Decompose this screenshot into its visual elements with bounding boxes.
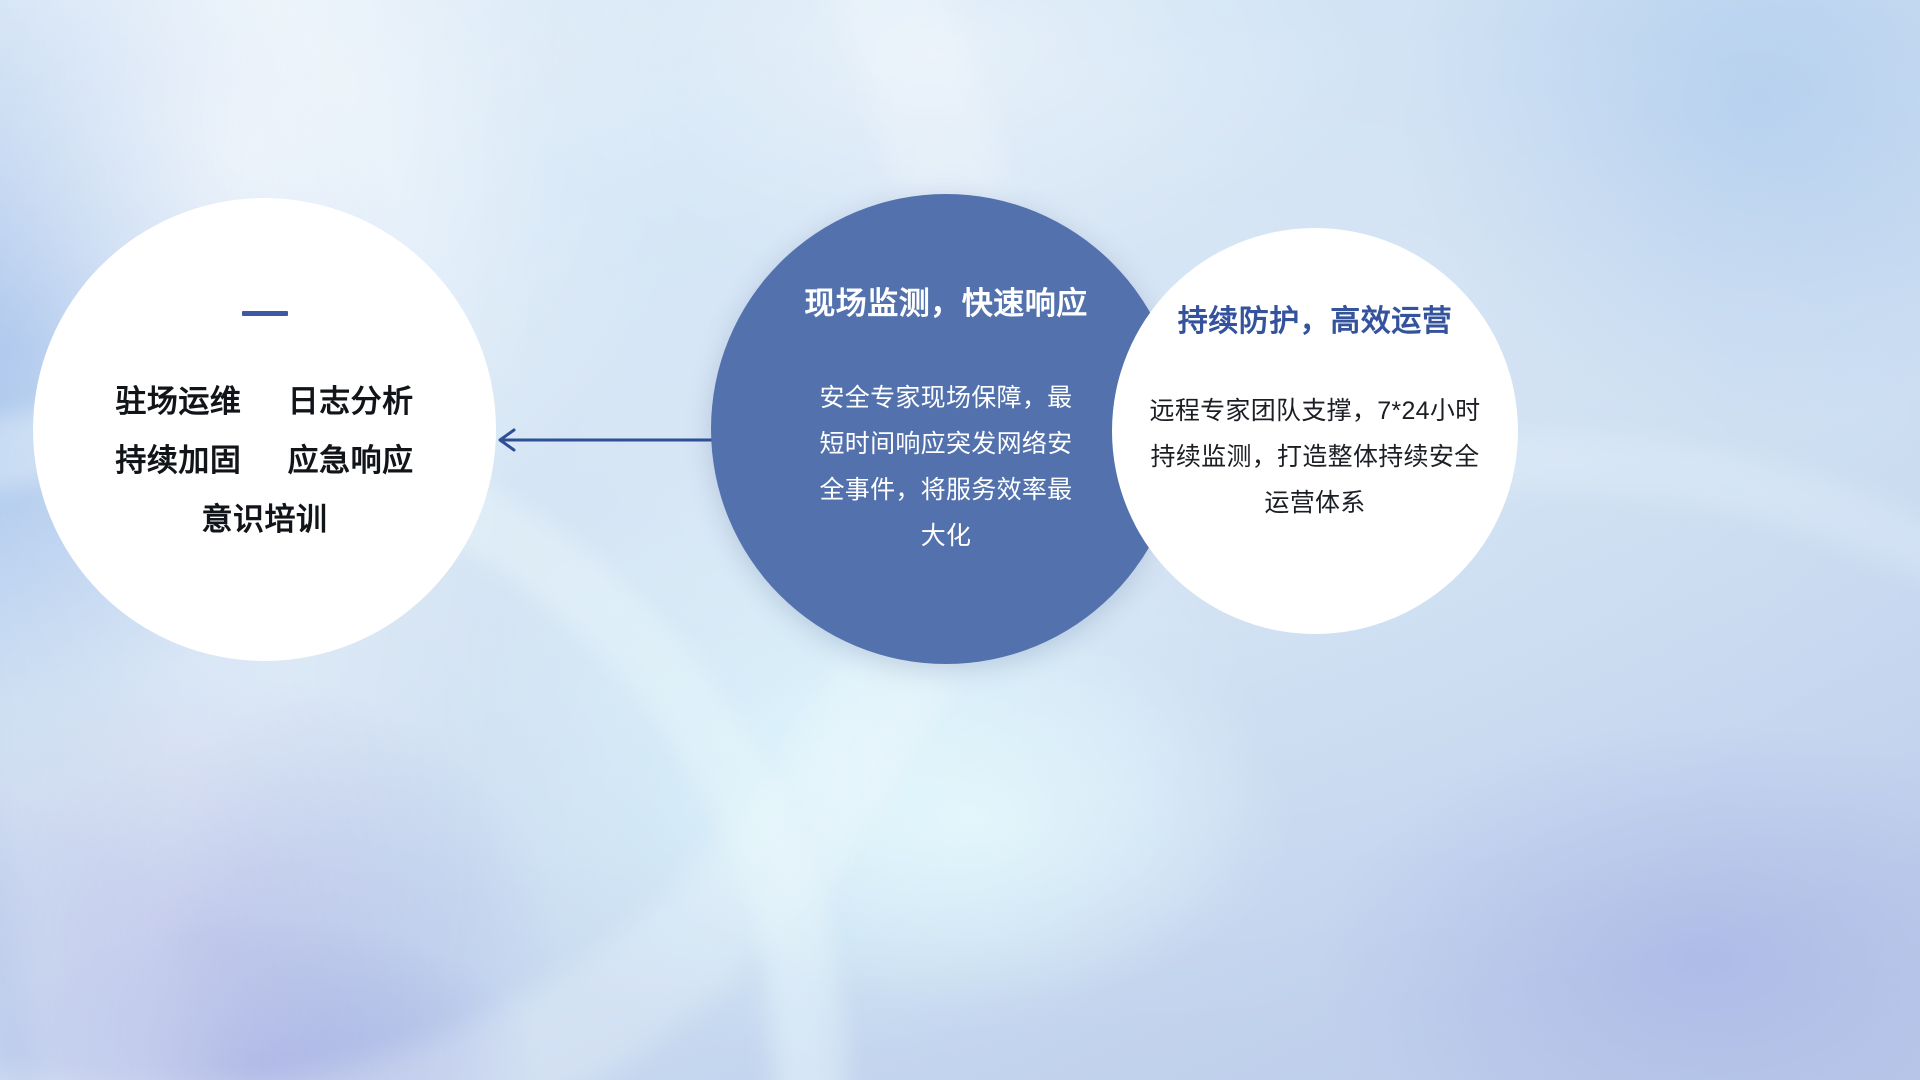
flow-arrow-icon <box>488 425 720 455</box>
capability-label: 驻场运维 <box>115 384 241 419</box>
capability-label: 意识培训 <box>202 502 328 537</box>
capabilities-list: 驻场运维 日志分析 持续加固 应急响应 意识培训 <box>115 372 413 549</box>
list-item: 持续加固 应急响应 <box>115 431 413 490</box>
onsite-monitoring-body: 安全专家现场保障，最短时间响应突发网络安全事件，将服务效率最大化 <box>809 375 1083 559</box>
onsite-monitoring-circle: 现场监测，快速响应 安全专家现场保障，最短时间响应突发网络安全事件，将服务效率最… <box>711 194 1181 664</box>
continuous-protection-circle: 持续防护，高效运营 远程专家团队支撑，7*24小时持续监测，打造整体持续安全运营… <box>1112 228 1518 634</box>
onsite-monitoring-title: 现场监测，快速响应 <box>804 278 1088 323</box>
capability-label: 持续加固 <box>115 443 241 478</box>
list-item: 意识培训 <box>115 490 413 549</box>
list-item: 驻场运维 日志分析 <box>115 372 413 431</box>
continuous-protection-title: 持续防护，高效运营 <box>1178 296 1453 340</box>
divider-dash <box>242 311 288 316</box>
capability-label: 日志分析 <box>288 384 414 419</box>
capabilities-circle: 驻场运维 日志分析 持续加固 应急响应 意识培训 <box>33 198 496 661</box>
capability-label: 应急响应 <box>288 443 414 478</box>
continuous-protection-body: 远程专家团队支撑，7*24小时持续监测，打造整体持续安全运营体系 <box>1143 388 1488 526</box>
